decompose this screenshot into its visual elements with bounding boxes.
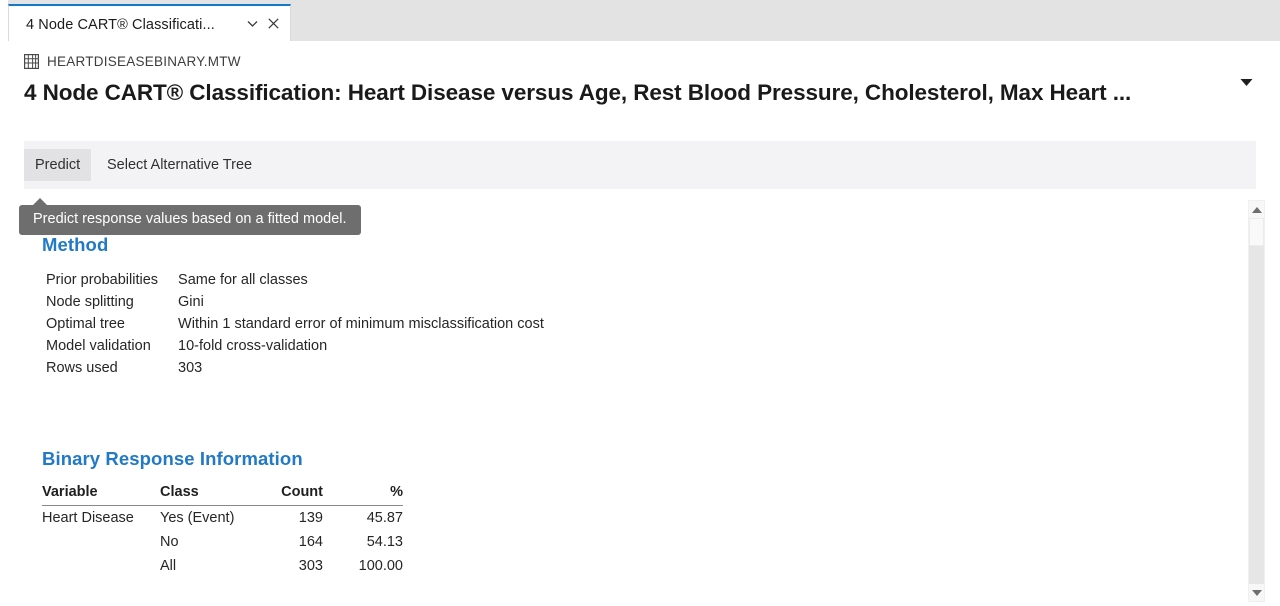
table-row: No 164 54.13 — [42, 530, 403, 554]
caret-down-icon[interactable] — [1235, 71, 1257, 93]
method-row-value: Within 1 standard error of minimum miscl… — [178, 316, 544, 338]
binary-response-table: Variable Class Count % Heart Disease Yes… — [42, 484, 403, 578]
cell-percent: 45.87 — [323, 506, 403, 531]
method-row-label: Prior probabilities — [46, 272, 178, 294]
scroll-down-arrow-icon[interactable] — [1249, 584, 1264, 601]
scrollbar-track[interactable] — [1249, 218, 1264, 584]
close-icon[interactable] — [264, 15, 282, 33]
method-row-label: Model validation — [46, 338, 178, 360]
cell-class: Yes (Event) — [160, 506, 265, 531]
chevron-down-icon[interactable] — [243, 15, 261, 33]
method-row-value: 10-fold cross-validation — [178, 338, 544, 360]
column-header-percent: % — [323, 484, 403, 506]
method-table: Prior probabilities Same for all classes… — [46, 272, 544, 382]
cell-variable: Heart Disease — [42, 506, 160, 531]
column-header-count: Count — [265, 484, 323, 506]
table-header-row: Variable Class Count % — [42, 484, 403, 506]
predict-button[interactable]: Predict — [24, 149, 91, 181]
scroll-up-triangle — [1252, 207, 1262, 213]
method-row-value: 303 — [178, 360, 544, 382]
cell-percent: 100.00 — [323, 554, 403, 578]
worksheet-grid-icon — [24, 54, 39, 69]
table-row: Rows used 303 — [46, 360, 544, 382]
method-row-value: Same for all classes — [178, 272, 544, 294]
scrollbar-thumb[interactable] — [1249, 218, 1264, 246]
command-bar: Predict Select Alternative Tree — [24, 141, 1256, 189]
cell-class: All — [160, 554, 265, 578]
method-row-label: Node splitting — [46, 294, 178, 316]
tab-cart-classification[interactable]: 4 Node CART® Classificati... — [8, 4, 291, 41]
tab-strip-left-gap — [0, 0, 8, 41]
output-pane: Method Prior probabilities Same for all … — [24, 196, 1232, 606]
method-row-value: Gini — [178, 294, 544, 316]
method-row-label: Optimal tree — [46, 316, 178, 338]
cell-count: 139 — [265, 506, 323, 531]
table-row: Optimal tree Within 1 standard error of … — [46, 316, 544, 338]
predict-tooltip: Predict response values based on a fitte… — [19, 205, 361, 235]
table-row: Prior probabilities Same for all classes — [46, 272, 544, 294]
cell-variable — [42, 530, 160, 554]
table-row: All 303 100.00 — [42, 554, 403, 578]
select-alternative-tree-button[interactable]: Select Alternative Tree — [96, 149, 263, 181]
tab-strip: 4 Node CART® Classificati... — [0, 0, 1280, 41]
tab-title: 4 Node CART® Classificati... — [26, 15, 243, 33]
method-row-label: Rows used — [46, 360, 178, 382]
worksheet-name: HEARTDISEASEBINARY.MTW — [47, 54, 241, 69]
document-header: HEARTDISEASEBINARY.MTW 4 Node CART® Clas… — [0, 41, 1280, 136]
table-row: Heart Disease Yes (Event) 139 45.87 — [42, 506, 403, 531]
cell-percent: 54.13 — [323, 530, 403, 554]
vertical-scrollbar[interactable] — [1248, 200, 1265, 602]
column-header-variable: Variable — [42, 484, 160, 506]
scroll-up-arrow-icon[interactable] — [1249, 201, 1264, 218]
worksheet-breadcrumb[interactable]: HEARTDISEASEBINARY.MTW — [24, 54, 241, 69]
column-header-class: Class — [160, 484, 265, 506]
method-section-heading: Method — [42, 234, 108, 256]
cell-count: 303 — [265, 554, 323, 578]
cell-count: 164 — [265, 530, 323, 554]
table-row: Node splitting Gini — [46, 294, 544, 316]
tooltip-arrow — [32, 198, 48, 206]
scroll-down-triangle — [1252, 590, 1262, 596]
cell-variable — [42, 554, 160, 578]
cell-class: No — [160, 530, 265, 554]
table-row: Model validation 10-fold cross-validatio… — [46, 338, 544, 360]
binary-response-section-heading: Binary Response Information — [42, 448, 303, 470]
page-title: 4 Node CART® Classification: Heart Disea… — [24, 80, 1131, 106]
